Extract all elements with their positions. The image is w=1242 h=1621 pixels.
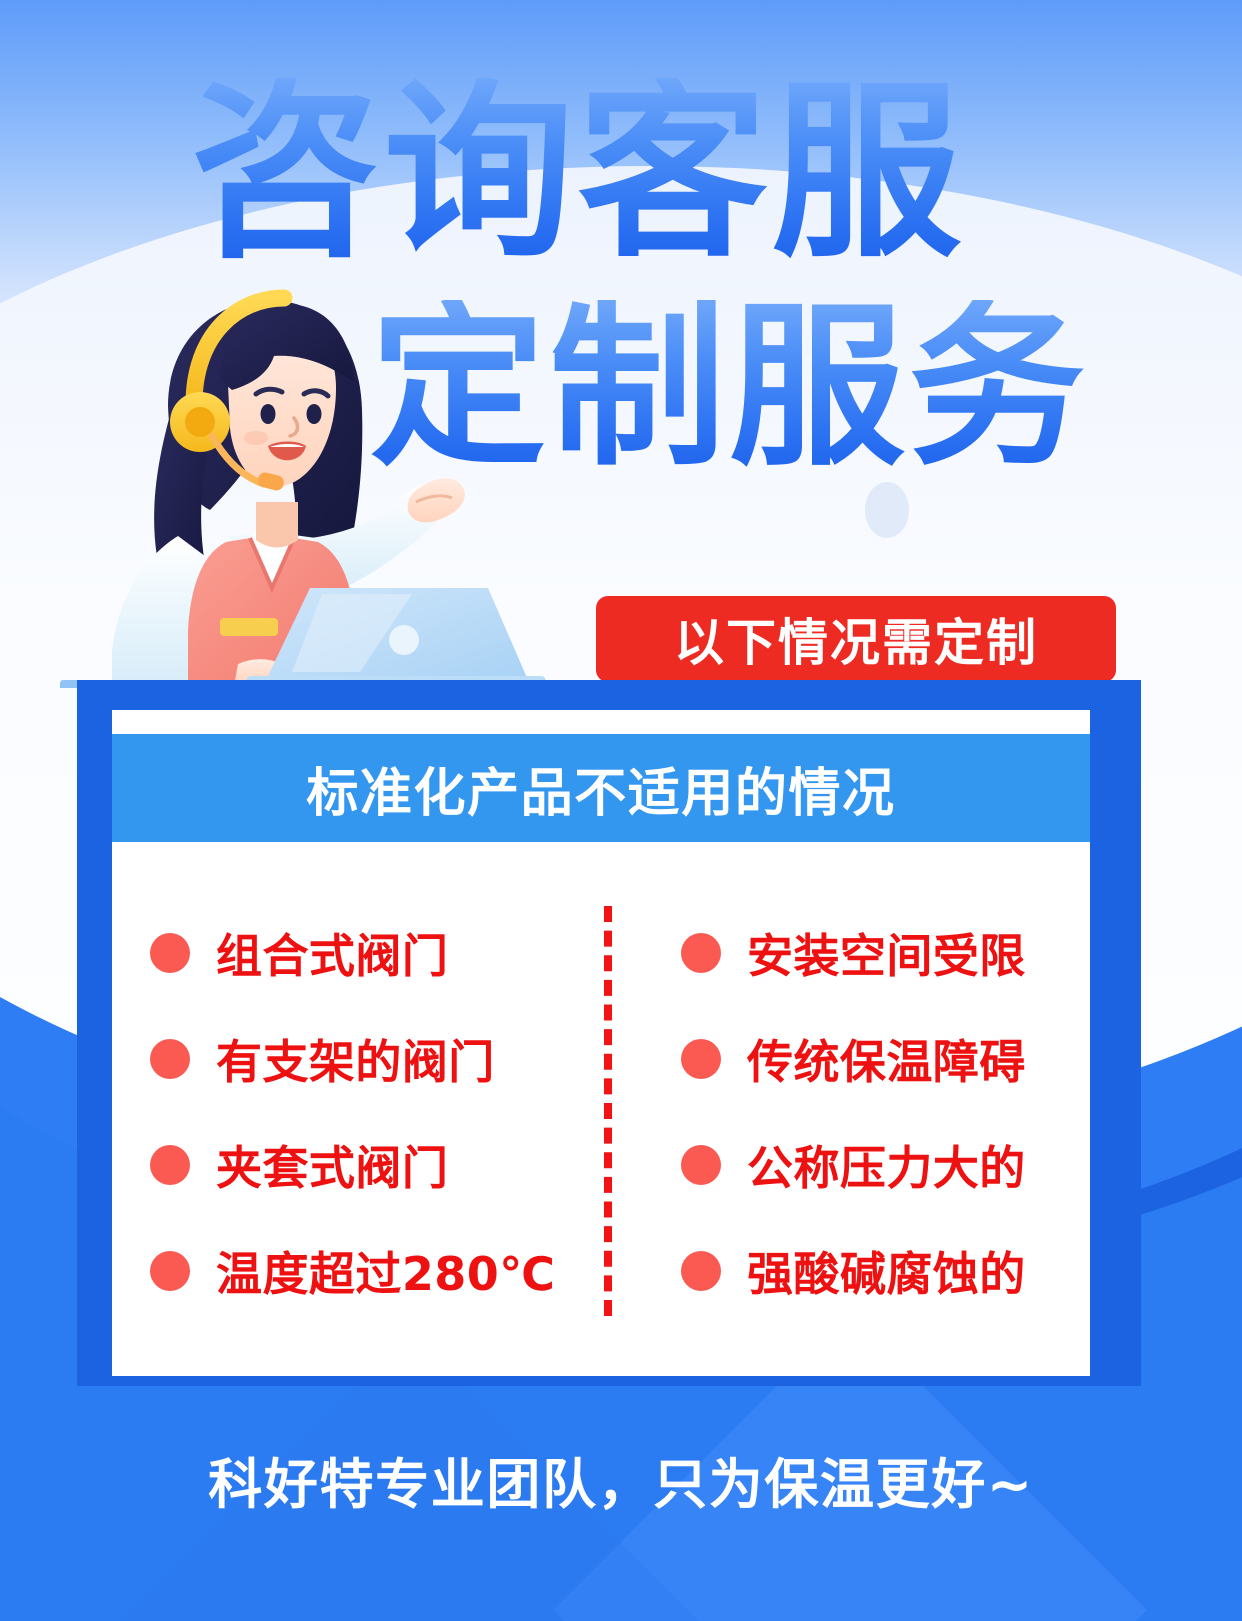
list-item-label: 安装空间受限 xyxy=(747,920,1026,986)
list-item: 公称压力大的 xyxy=(643,1112,1090,1218)
headline-primary: 咨询客服 xyxy=(190,78,965,268)
list-item-label: 强酸碱腐蚀的 xyxy=(747,1238,1026,1304)
list-item: 有支架的阀门 xyxy=(112,1006,601,1112)
conditions-column-right: 安装空间受限 传统保温障碍 公称压力大的 强酸碱腐蚀的 xyxy=(601,882,1090,1352)
bullet-dot-icon xyxy=(150,1145,190,1185)
list-item: 温度超过280℃ xyxy=(112,1218,601,1324)
bullet-dot-icon xyxy=(150,1039,190,1079)
customer-service-agent-illustration xyxy=(60,288,560,688)
conditions-column-left: 组合式阀门 有支架的阀门 夹套式阀门 温度超过280℃ xyxy=(112,882,601,1352)
bullet-dot-icon xyxy=(681,1145,721,1185)
card-header-bar: 标准化产品不适用的情况 xyxy=(112,734,1090,842)
footer-tagline: 科好特专业团队，只为保温更好~ xyxy=(0,1424,1242,1534)
eye-left xyxy=(261,404,276,424)
list-item-label: 公称压力大的 xyxy=(747,1132,1026,1198)
conditions-card: 标准化产品不适用的情况 组合式阀门 有支架的阀门 夹套式阀门 温度 xyxy=(112,710,1090,1376)
list-item-label: 夹套式阀门 xyxy=(216,1132,448,1198)
list-item-label: 组合式阀门 xyxy=(216,920,448,986)
decorative-dot xyxy=(865,482,909,538)
bullet-dot-icon xyxy=(150,1251,190,1291)
list-item: 传统保温障碍 xyxy=(643,1006,1090,1112)
callout-ribbon: 以下情况需定制 xyxy=(596,596,1116,682)
list-item-label: 传统保温障碍 xyxy=(747,1026,1026,1092)
eye-right xyxy=(307,404,322,424)
bullet-dot-icon xyxy=(150,933,190,973)
list-item: 强酸碱腐蚀的 xyxy=(643,1218,1090,1324)
name-badge xyxy=(220,618,278,636)
conditions-columns: 组合式阀门 有支架的阀门 夹套式阀门 温度超过280℃ 安 xyxy=(112,882,1090,1352)
bullet-dot-icon xyxy=(681,933,721,973)
list-item-label: 有支架的阀门 xyxy=(216,1026,495,1092)
list-item: 组合式阀门 xyxy=(112,900,601,1006)
bullet-dot-icon xyxy=(681,1251,721,1291)
list-item: 夹套式阀门 xyxy=(112,1112,601,1218)
list-item: 安装空间受限 xyxy=(643,900,1090,1006)
headset-earcup-inner xyxy=(185,407,215,437)
list-item-label: 温度超过280℃ xyxy=(216,1238,555,1304)
bullet-dot-icon xyxy=(681,1039,721,1079)
blush xyxy=(244,431,268,445)
laptop-logo xyxy=(389,625,419,655)
poster-root: 咨询客服 定制服务 xyxy=(0,0,1242,1621)
neck xyxy=(256,502,298,548)
